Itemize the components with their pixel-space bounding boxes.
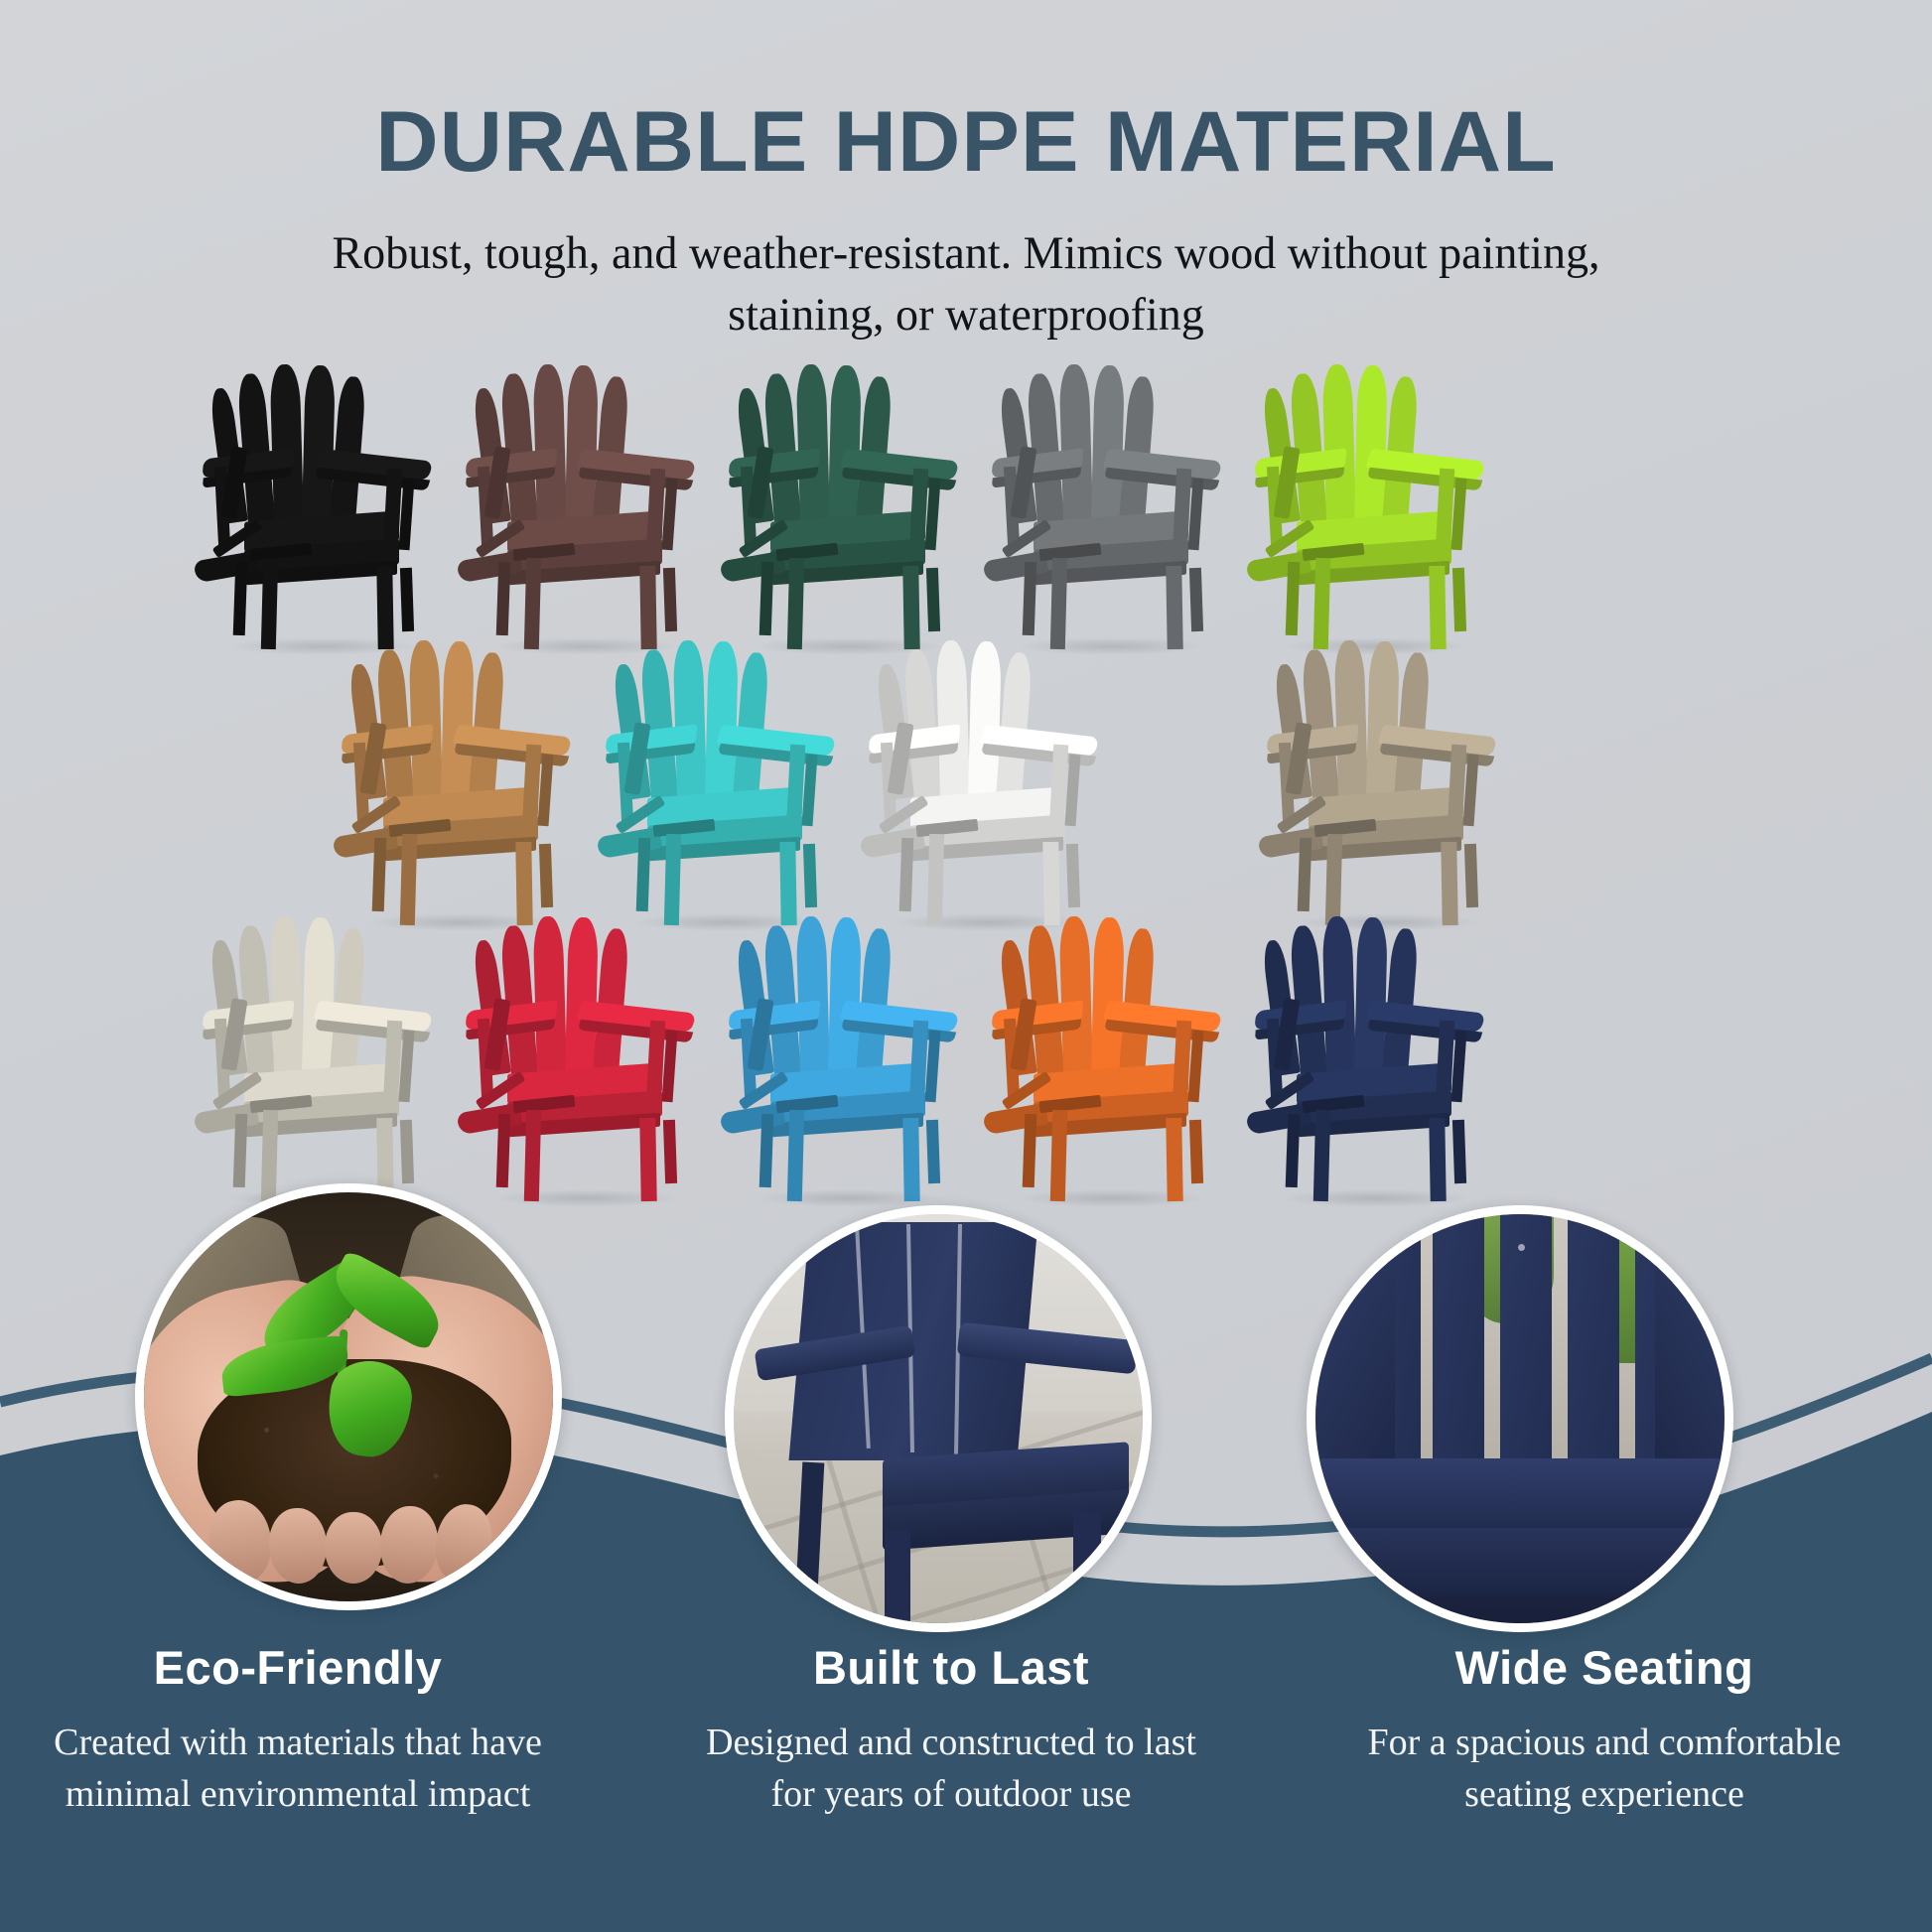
color-swatch-orange[interactable]	[978, 921, 1238, 1201]
back-slat	[409, 640, 443, 799]
leg-back-left	[1298, 838, 1312, 911]
adirondack-chair-graphic	[1241, 369, 1501, 649]
leg-back-right	[1066, 844, 1080, 907]
leg-front-right	[515, 842, 532, 925]
color-swatch-weathered-wood[interactable]	[1253, 645, 1513, 925]
chair-leg	[796, 1462, 825, 1590]
color-swatch-navy-blue[interactable]	[1241, 921, 1501, 1201]
back-slat	[1059, 364, 1093, 523]
rivet	[1518, 1244, 1525, 1251]
adirondack-chair-graphic	[452, 921, 712, 1201]
color-swatch-lime-green[interactable]	[1241, 369, 1501, 649]
leg-front-right	[639, 566, 656, 649]
adirondack-chair-graphic	[328, 645, 588, 925]
color-swatch-gray[interactable]	[978, 369, 1238, 649]
feature-title: Wide Seating	[1307, 1640, 1902, 1695]
leg-front-left	[1313, 558, 1330, 649]
leg-front-left	[787, 558, 804, 649]
adirondack-chair-graphic	[452, 369, 712, 649]
seat-base-shadow	[1307, 1595, 1733, 1632]
color-swatch-ivory[interactable]	[189, 921, 449, 1201]
feature-title: Built to Last	[653, 1640, 1249, 1695]
color-swatch-grid	[0, 369, 1932, 1209]
leg-back-right	[926, 568, 940, 631]
feature-photo-wide-seating	[1307, 1205, 1733, 1632]
leg-front-left	[927, 834, 944, 925]
header-block: DURABLE HDPE MATERIAL Robust, tough, and…	[0, 0, 1932, 345]
feature-description: Designed and constructed to last for yea…	[653, 1717, 1249, 1821]
back-slat	[533, 364, 567, 523]
leg-back-right	[1189, 568, 1203, 631]
leg-back-right	[1464, 844, 1478, 907]
leg-back-right	[1452, 568, 1466, 631]
page-subtitle: Robust, tough, and weather-resistant. Mi…	[19, 222, 1912, 345]
adirondack-chair-graphic	[592, 645, 852, 925]
back-slat	[533, 916, 567, 1075]
back-slat	[1322, 916, 1356, 1075]
adirondack-chair-graphic	[189, 369, 449, 649]
back-slat	[673, 640, 707, 799]
back-slat	[1059, 916, 1093, 1075]
leg-back-left	[496, 562, 511, 635]
leg-back-left	[636, 838, 651, 911]
swatch-row-2	[0, 645, 1932, 925]
color-swatch-light-blue[interactable]	[715, 921, 975, 1201]
leg-back-left	[233, 562, 248, 635]
leg-front-left	[400, 834, 417, 925]
back-slat	[936, 640, 970, 799]
leg-front-left	[1325, 834, 1342, 925]
color-swatch-red[interactable]	[452, 921, 712, 1201]
leg-back-left	[1286, 562, 1301, 635]
leg-back-right	[663, 568, 677, 631]
back-slat	[1334, 640, 1368, 799]
feature-built-to-last: Built to Last Designed and constructed t…	[653, 1640, 1249, 1821]
color-swatch-black[interactable]	[189, 369, 449, 649]
color-swatch-dark-green[interactable]	[715, 369, 975, 649]
wide-seat-closeup-image	[1315, 1214, 1725, 1623]
navy-chair-patio-image	[734, 1214, 1143, 1623]
feature-description: For a spacious and comfortable seating e…	[1307, 1717, 1902, 1821]
color-swatch-teak[interactable]	[328, 645, 588, 925]
leg-back-right	[400, 568, 414, 631]
adirondack-chair-graphic	[1253, 645, 1513, 925]
back-slat	[1322, 364, 1356, 523]
leg-front-left	[1050, 558, 1067, 649]
leg-front-left	[664, 834, 681, 925]
leg-back-right	[539, 844, 553, 907]
leg-back-left	[372, 838, 387, 911]
feature-title: Eco-Friendly	[0, 1640, 596, 1695]
leg-back-left	[899, 838, 914, 911]
leg-back-left	[1023, 562, 1037, 635]
leg-front-right	[1166, 566, 1182, 649]
leg-front-right	[1429, 566, 1446, 649]
feature-photo-row	[0, 1173, 1932, 1630]
swatch-row-3	[0, 921, 1932, 1201]
leg-back-right	[803, 844, 817, 907]
hands-soil-seedling-image	[144, 1192, 553, 1601]
feature-wide-seating: Wide Seating For a spacious and comforta…	[1307, 1640, 1902, 1821]
back-slat	[796, 916, 830, 1075]
adirondack-chair-graphic	[715, 921, 975, 1201]
adirondack-chair-graphic	[978, 369, 1238, 649]
leg-front-right	[902, 566, 919, 649]
feature-eco-friendly: Eco-Friendly Created with materials that…	[0, 1640, 596, 1821]
adirondack-chair-graphic	[855, 645, 1115, 925]
page-title: DURABLE HDPE MATERIAL	[0, 97, 1932, 187]
leg-front-left	[261, 558, 278, 649]
back-slat	[270, 916, 304, 1075]
adirondack-chair-graphic	[189, 921, 449, 1201]
leg-front-right	[779, 842, 796, 925]
rivet	[1387, 1248, 1394, 1255]
feature-photo-built-to-last	[725, 1205, 1152, 1632]
chair-leg	[885, 1530, 910, 1632]
infographic-canvas: DURABLE HDPE MATERIAL Robust, tough, and…	[0, 0, 1932, 1932]
leg-front-left	[524, 558, 541, 649]
armrest-right	[1655, 1254, 1733, 1462]
seat-slab-lower	[1307, 1528, 1733, 1601]
rivet	[1649, 1248, 1656, 1255]
adirondack-chair-graphic	[715, 369, 975, 649]
seat-slab-upper	[1307, 1458, 1733, 1534]
back-slat	[796, 364, 830, 523]
feature-description: Created with materials that have minimal…	[0, 1717, 596, 1821]
swatch-row-1	[0, 369, 1932, 649]
leg-front-right	[1441, 842, 1457, 925]
color-swatch-white[interactable]	[855, 645, 1115, 925]
finger	[325, 1512, 382, 1584]
adirondack-chair-graphic	[1241, 921, 1501, 1201]
leg-front-right	[376, 566, 393, 649]
leg-front-right	[1042, 842, 1059, 925]
leg-back-left	[759, 562, 774, 635]
feature-photo-eco-friendly	[135, 1183, 562, 1610]
armrest-left	[1307, 1270, 1395, 1468]
back-slat	[270, 364, 304, 523]
color-swatch-brown[interactable]	[452, 369, 712, 649]
chair-leg	[1073, 1512, 1101, 1623]
adirondack-chair-graphic	[978, 921, 1238, 1201]
color-swatch-turquoise[interactable]	[592, 645, 852, 925]
